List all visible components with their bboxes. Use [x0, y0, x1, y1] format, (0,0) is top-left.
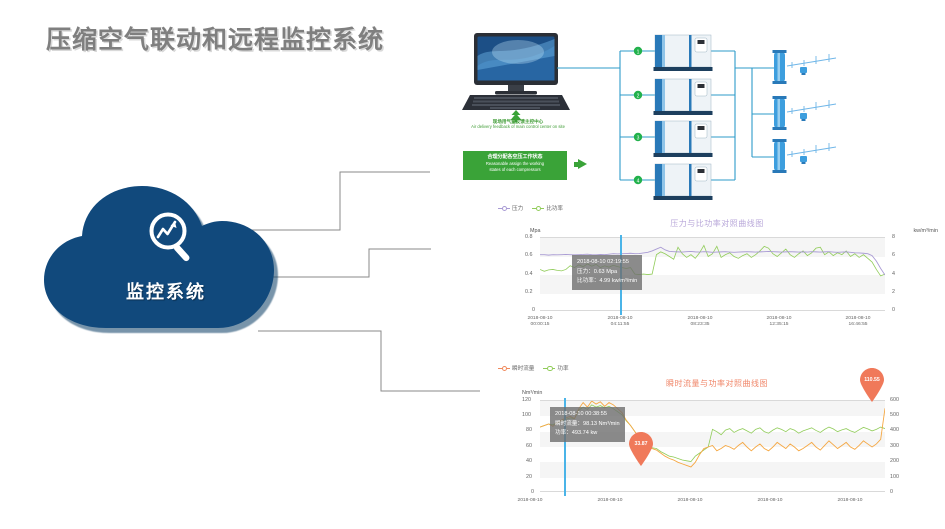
- air-tank-group: [773, 50, 837, 173]
- svg-text:2: 2: [637, 93, 640, 99]
- y-axis-unit-right: kw/m³/min: [913, 228, 938, 234]
- svg-text:3: 3: [637, 135, 640, 141]
- cloud-label: 监控系统: [36, 278, 296, 304]
- ytick-right: 0: [892, 307, 895, 313]
- ytick-left: 120: [522, 397, 531, 403]
- xtick-3: 2018-08-10: [742, 498, 798, 504]
- min-marker-label: 33.87: [628, 441, 654, 447]
- legend-swatch-pressure: [498, 206, 510, 211]
- ytick-left: 0.8: [525, 234, 533, 240]
- xtick-date: 2018-08-10: [607, 316, 632, 321]
- chart-legend[interactable]: 瞬时流量 功率: [498, 364, 569, 372]
- xtick-date: 2018-08-10: [527, 316, 552, 321]
- ytick-left: 80: [526, 427, 532, 433]
- xtick-2: 2018-08-10 08:23:35: [672, 316, 728, 328]
- xtick-date: 2018-08-10: [837, 498, 862, 503]
- xtick-4: 2018-08-10 16:46:55: [830, 316, 886, 328]
- xtick-time: 12:35:15: [769, 322, 788, 327]
- xtick-date: 2018-08-10: [687, 316, 712, 321]
- max-marker-label: 110.55: [859, 377, 885, 383]
- piping-schematic: 1 2 3 4: [452, 22, 942, 200]
- tooltip-timestamp: 2018-08-10 00:38:55: [555, 410, 620, 420]
- pressure-power-chart[interactable]: 压力 比功率 压力与比功率对照曲线图 Mpa kw/m³/min 0.8 0.6…: [492, 204, 942, 332]
- flow-power-chart[interactable]: 瞬时流量 功率 瞬时流量与功率对照曲线图 Nm³/min 120 100 80 …: [492, 364, 942, 529]
- xtick-1: 2018-08-10: [582, 498, 638, 504]
- ytick-right: 300: [890, 443, 899, 449]
- ytick-right: 600: [890, 397, 899, 403]
- ytick-left: 0.4: [525, 271, 533, 277]
- slide-canvas: 压缩空气联动和远程监控系统 监控系统: [0, 0, 945, 529]
- ytick-right: 500: [890, 412, 899, 418]
- ytick-right: 100: [890, 474, 899, 480]
- tooltip-pressure: 2018-08-10 02:19:55 压力：0.63 Mpa 比功率：4.99…: [572, 255, 642, 290]
- xtick-1: 2018-08-10 04:11:55: [592, 316, 648, 328]
- legend-label-pressure: 压力: [512, 204, 523, 212]
- legend-item-specific-power[interactable]: 比功率: [532, 204, 563, 212]
- legend-item-pressure[interactable]: 压力: [498, 204, 523, 212]
- xtick-3: 2018-08-10 12:35:15: [751, 316, 807, 328]
- ytick-right: 400: [890, 427, 899, 433]
- xtick-4: 2018-08-10: [822, 498, 878, 504]
- ytick-right: 200: [890, 458, 899, 464]
- ytick-right: 4: [892, 271, 895, 277]
- legend-item-power[interactable]: 功率: [543, 364, 568, 372]
- xtick-time: 16:46:55: [848, 322, 867, 327]
- ytick-left: 100: [522, 412, 531, 418]
- ytick-left: 60: [526, 443, 532, 449]
- chart-title-pressure: 压力与比功率对照曲线图: [492, 218, 942, 229]
- xtick-time: 00:00:15: [530, 322, 549, 327]
- legend-swatch-flow: [498, 366, 510, 371]
- legend-swatch-power: [543, 366, 555, 371]
- ytick-left: 0.2: [525, 289, 533, 295]
- xtick-time: 04:11:55: [611, 322, 630, 327]
- xtick-time: 08:23:35: [690, 322, 709, 327]
- ytick-left: 20: [526, 474, 532, 480]
- ytick-left: 0: [532, 307, 535, 313]
- ytick-right: 8: [892, 234, 895, 240]
- max-marker-pin[interactable]: 110.55: [859, 368, 885, 402]
- page-title: 压缩空气联动和远程监控系统: [46, 20, 384, 56]
- compressor-unit: [654, 35, 713, 200]
- tooltip-line2: 比功率：4.99 kw/m³/min: [577, 277, 637, 287]
- legend-item-flow[interactable]: 瞬时流量: [498, 364, 534, 372]
- ytick-left: 40: [526, 458, 532, 464]
- system-diagram: 现场用气量反馈主控中心 Air delivery feedback of mai…: [452, 22, 942, 200]
- legend-label-power: 功率: [557, 364, 568, 372]
- svg-text:4: 4: [637, 178, 640, 184]
- legend-label-specific-power: 比功率: [546, 204, 563, 212]
- tooltip-flow: 2018-08-10 00:38:55 瞬时流量：98.13 Nm³/min 功…: [550, 407, 625, 442]
- xtick-date: 2018-08-10: [766, 316, 791, 321]
- tooltip-line1: 瞬时流量：98.13 Nm³/min: [555, 420, 620, 430]
- xtick-2: 2018-08-10: [662, 498, 718, 504]
- min-marker-pin[interactable]: 33.87: [628, 432, 654, 466]
- legend-swatch-specific-power: [532, 206, 544, 211]
- legend-label-flow: 瞬时流量: [512, 364, 534, 372]
- svg-text:1: 1: [637, 49, 640, 55]
- xtick-date: 2018-08-10: [757, 498, 782, 503]
- xtick-date: 2018-08-10: [597, 498, 622, 503]
- tooltip-timestamp: 2018-08-10 02:19:55: [577, 258, 637, 268]
- xtick-0: 2018-08-10 00:00:15: [512, 316, 568, 328]
- xtick-date: 2018-08-10: [677, 498, 702, 503]
- tooltip-line2: 功率：493.74 kw: [555, 429, 620, 439]
- ytick-right: 6: [892, 252, 895, 258]
- xtick-0: 2018-08-10: [502, 498, 558, 504]
- xtick-date: 2018-08-10: [517, 498, 542, 503]
- tooltip-line1: 压力：0.63 Mpa: [577, 268, 637, 278]
- magnifier-chart-icon: [142, 207, 204, 269]
- ytick-right: 0: [890, 489, 893, 495]
- ytick-left: 0: [531, 489, 534, 495]
- ytick-left: 0.6: [525, 252, 533, 258]
- monitoring-cloud[interactable]: 监控系统: [36, 180, 296, 330]
- chart-legend[interactable]: 压力 比功率: [498, 204, 563, 212]
- y-axis-unit-flow: Nm³/min: [522, 390, 542, 396]
- xtick-date: 2018-08-10: [845, 316, 870, 321]
- ytick-right: 2: [892, 289, 895, 295]
